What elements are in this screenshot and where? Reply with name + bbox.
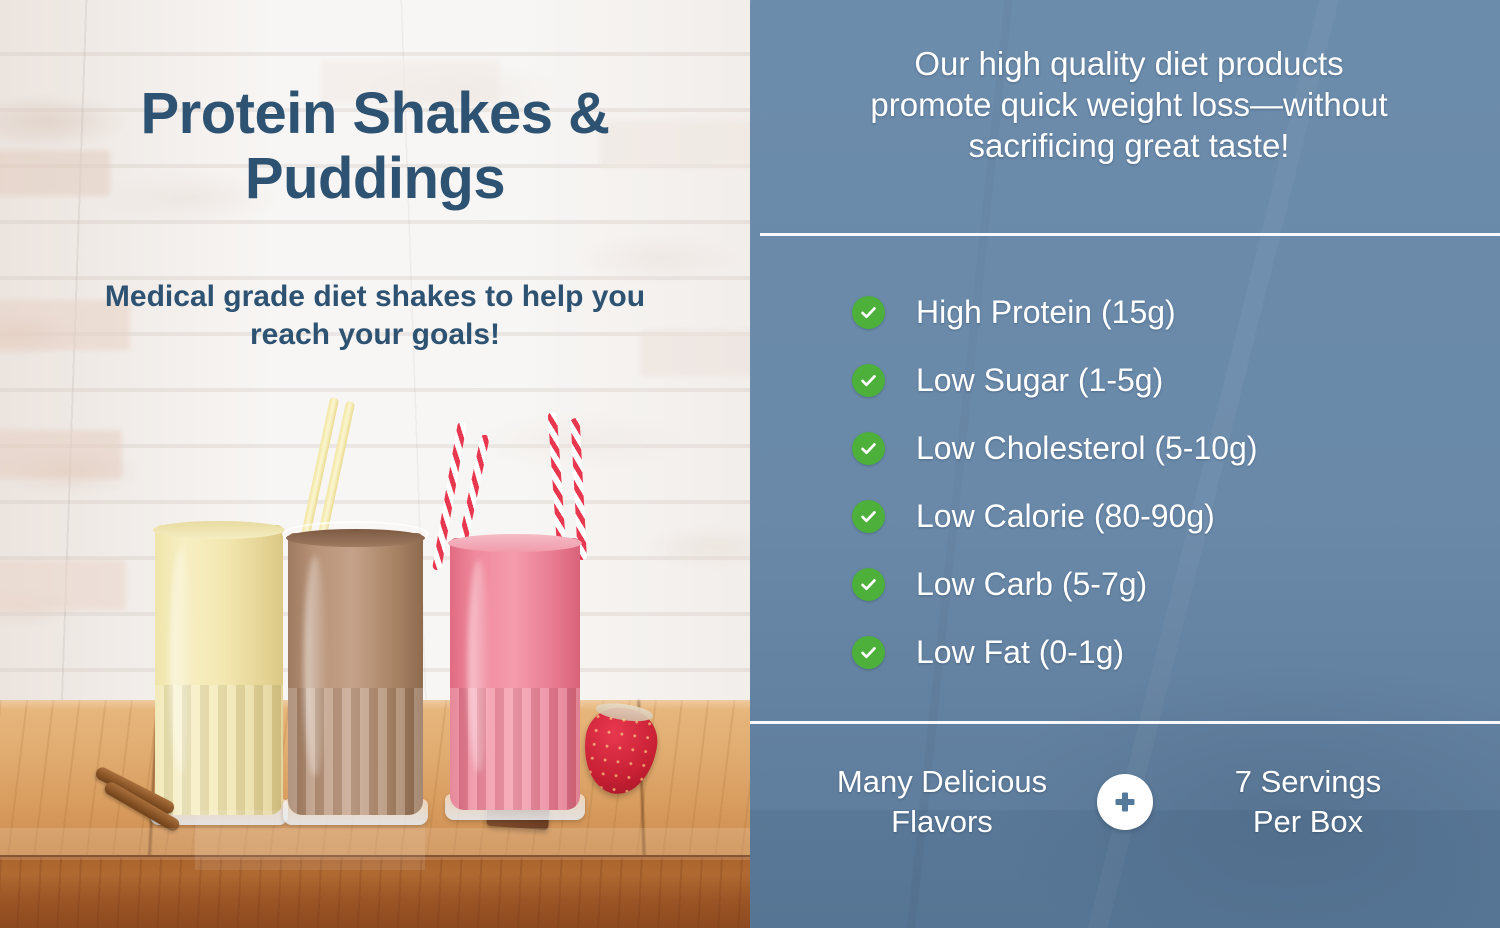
left-text-block: Protein Shakes & Puddings Medical grade … bbox=[0, 0, 750, 355]
benefit-label: Low Fat (0-1g) bbox=[916, 636, 1124, 668]
divider-top bbox=[760, 233, 1500, 236]
benefit-item: Low Fat (0-1g) bbox=[852, 618, 1480, 686]
check-circle-icon bbox=[852, 364, 885, 397]
check-circle-icon bbox=[852, 568, 885, 601]
glass-highlight bbox=[304, 556, 326, 776]
servings-text: 7 Servings Per Box bbox=[1163, 762, 1453, 841]
wooden-table-edge bbox=[0, 855, 750, 928]
glass-highlight bbox=[468, 560, 489, 772]
brick-tile bbox=[0, 560, 126, 610]
benefit-item: High Protein (15g) bbox=[852, 278, 1480, 346]
photo-panel: Protein Shakes & Puddings Medical grade … bbox=[0, 0, 750, 928]
page-subtitle: Medical grade diet shakes to help you re… bbox=[56, 278, 694, 355]
chocolate-shake-glass bbox=[288, 533, 423, 815]
benefit-label: High Protein (15g) bbox=[916, 296, 1176, 328]
benefit-item: Low Carb (5-7g) bbox=[852, 550, 1480, 618]
divider-bottom bbox=[750, 721, 1500, 724]
benefit-label: Low Sugar (1-5g) bbox=[916, 364, 1163, 396]
page-title: Protein Shakes & Puddings bbox=[56, 82, 694, 212]
benefit-label: Low Cholesterol (5-10g) bbox=[916, 432, 1258, 464]
check-circle-icon bbox=[852, 500, 885, 533]
brick-tile bbox=[0, 430, 122, 478]
benefit-item: Low Cholesterol (5-10g) bbox=[852, 414, 1480, 482]
shake-surface bbox=[153, 521, 285, 539]
check-circle-icon bbox=[852, 636, 885, 669]
headline-text: Our high quality diet products promote q… bbox=[780, 44, 1478, 167]
check-circle-icon bbox=[852, 296, 885, 329]
benefit-label: Low Carb (5-7g) bbox=[916, 568, 1147, 600]
shake-surface bbox=[286, 529, 425, 547]
glass-highlight bbox=[170, 548, 190, 774]
benefits-list: High Protein (15g) Low Sugar (1-5g) bbox=[852, 278, 1480, 686]
check-circle-icon bbox=[852, 432, 885, 465]
footer-highlights: Many Delicious Flavors 7 Servings Per Bo… bbox=[750, 762, 1500, 841]
product-poster: Protein Shakes & Puddings Medical grade … bbox=[0, 0, 1500, 928]
flavors-text: Many Delicious Flavors bbox=[797, 762, 1087, 841]
shake-surface bbox=[448, 534, 582, 552]
vanilla-shake-glass bbox=[155, 525, 283, 815]
benefit-item: Low Calorie (80-90g) bbox=[852, 482, 1480, 550]
benefit-label: Low Calorie (80-90g) bbox=[916, 500, 1215, 532]
benefit-item: Low Sugar (1-5g) bbox=[852, 346, 1480, 414]
plus-circle-icon bbox=[1097, 774, 1153, 830]
info-panel: Our high quality diet products promote q… bbox=[750, 0, 1500, 928]
strawberry-shake-glass bbox=[450, 538, 580, 810]
